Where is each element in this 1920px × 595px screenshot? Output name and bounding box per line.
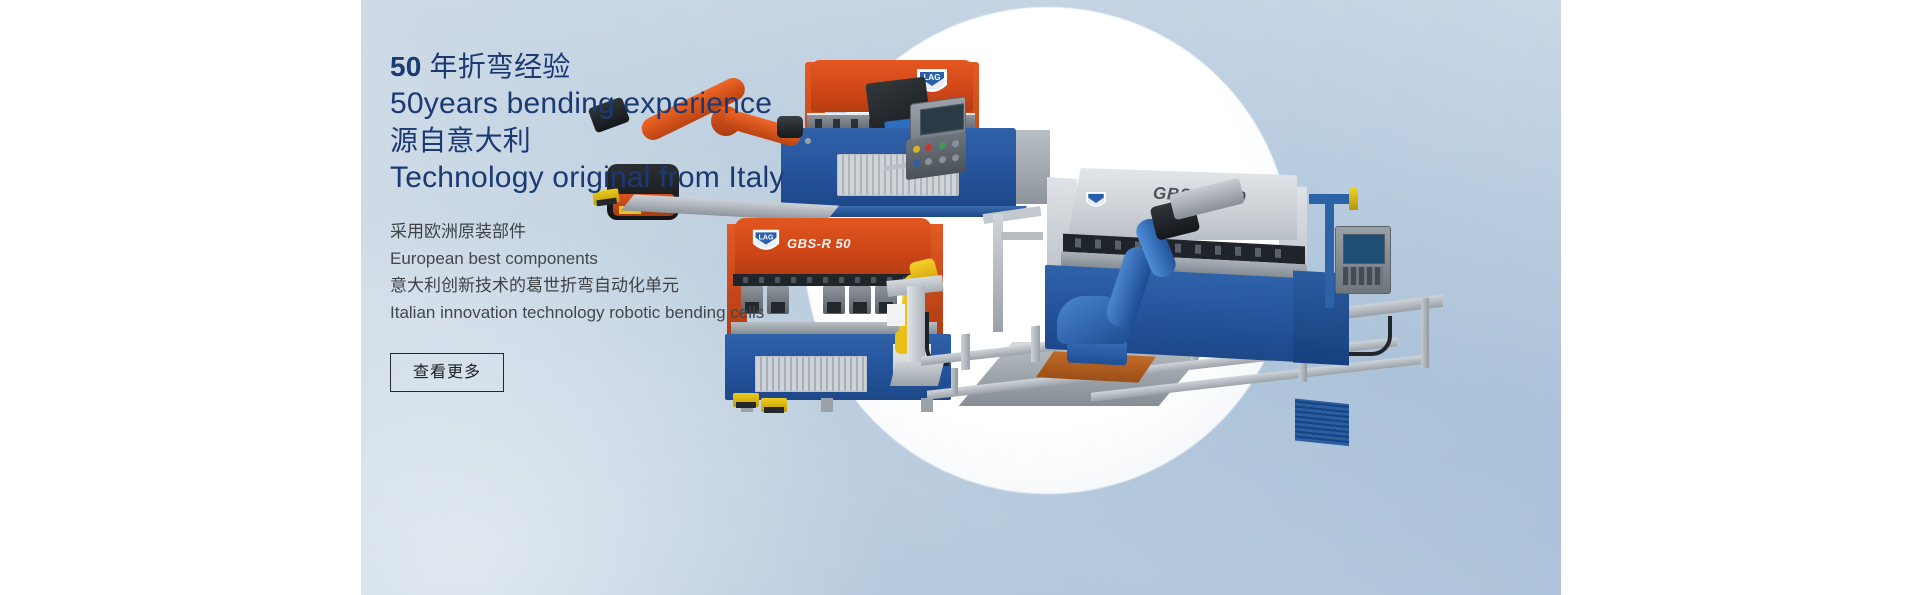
view-more-button[interactable]: 查看更多: [390, 353, 504, 392]
headline-group: 50 年折弯经验 50years bending experience 源自意大…: [390, 48, 1010, 196]
headline-line-1-rest: 年折弯经验: [422, 51, 571, 82]
headline-years-number: 50: [390, 51, 422, 82]
headline-line-2: 50years bending experience: [390, 85, 1010, 122]
subtext-line-4: Italian innovation technology robotic be…: [390, 299, 1010, 326]
subtext-line-3: 意大利创新技术的葛世折弯自动化单元: [390, 272, 1010, 299]
headline-line-1: 50 年折弯经验: [390, 48, 1010, 85]
headline-line-4: Technology original from Italy: [390, 159, 1010, 196]
headline-line-3: 源自意大利: [390, 122, 1010, 159]
clamp-icon: [761, 398, 787, 412]
clamp-icon: [733, 393, 759, 407]
subtext-line-1: 采用欧洲原装部件: [390, 218, 1010, 245]
subtext-group: 采用欧洲原装部件 European best components 意大利创新技…: [390, 218, 1010, 326]
machine-gbs-r-100: GBS-R 100: [957, 168, 1417, 418]
subtext-line-2: European best components: [390, 245, 1010, 272]
hero-banner-panel: LAG: [361, 0, 1561, 595]
cnc-panel-right: [1335, 226, 1391, 294]
hero-banner-stage: LAG: [0, 0, 1920, 595]
hero-copy-block: 50 年折弯经验 50years bending experience 源自意大…: [390, 48, 1010, 392]
lag-logo-icon: [1085, 190, 1107, 212]
